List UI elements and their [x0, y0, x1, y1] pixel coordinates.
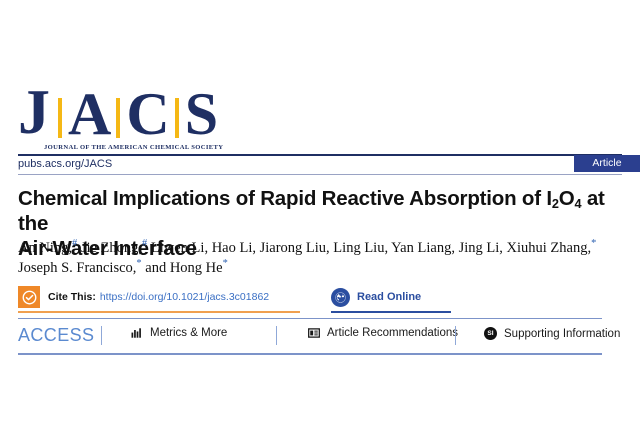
access-bar: ACCESS Metrics & More — [18, 322, 602, 352]
author-list: An Ning,# Jie Zhong,# Liwen Li, Hao Li, … — [18, 238, 618, 278]
jacs-masthead: J A C S JOURNAL OF THE AMERICAN CHEMICAL… — [18, 86, 218, 151]
author-line-1: An Ning,# Jie Zhong,# Liwen Li, Hao Li, … — [18, 240, 596, 256]
access-divider-3 — [455, 326, 456, 345]
article-header-page: J A C S JOURNAL OF THE AMERICAN CHEMICAL… — [0, 0, 640, 429]
logo-letter-s: S — [185, 87, 217, 142]
article-recommendations-item[interactable]: Article Recommendations — [308, 327, 458, 339]
si-badge: SI — [484, 327, 497, 340]
jacs-logo: J A C S — [18, 86, 218, 142]
article-recommendations-label: Article Recommendations — [327, 327, 458, 339]
access-divider-2 — [276, 326, 277, 345]
cite-this-block[interactable]: Cite This: https://doi.org/10.1021/jacs.… — [18, 286, 269, 308]
cite-this-label: Cite This: — [48, 291, 96, 303]
masthead-rule — [18, 154, 622, 156]
supporting-information-label: Supporting Information — [504, 328, 620, 340]
logo-letter-c: C — [126, 87, 168, 142]
logo-letter-j: J — [18, 83, 49, 142]
read-online-label: Read Online — [357, 291, 421, 303]
check-circle-icon — [18, 286, 40, 308]
bar-chart-icon — [131, 327, 143, 339]
logo-divider-2 — [116, 98, 120, 138]
globe-icon — [331, 288, 350, 307]
article-type-badge: Article — [574, 155, 640, 172]
read-online-underline — [331, 311, 451, 313]
cite-read-row: Cite This: https://doi.org/10.1021/jacs.… — [18, 286, 622, 314]
access-rule-top — [18, 318, 602, 319]
supporting-information-icon: SI — [484, 327, 497, 340]
title-subscript-4: 4 — [574, 196, 581, 211]
access-label[interactable]: ACCESS — [18, 325, 94, 346]
logo-divider-1 — [58, 98, 62, 138]
doi-link[interactable]: https://doi.org/10.1021/jacs.3c01862 — [100, 291, 269, 303]
pubs-rule — [18, 174, 622, 175]
journal-subtitle: JOURNAL OF THE AMERICAN CHEMICAL SOCIETY — [44, 144, 218, 151]
title-part-1: Chemical Implications of Rapid Reactive … — [18, 187, 552, 210]
access-rule-bottom — [18, 353, 602, 355]
title-subscript-2: 2 — [552, 196, 559, 211]
logo-divider-3 — [175, 98, 179, 138]
access-divider-1 — [101, 326, 102, 345]
cite-underline — [18, 311, 300, 313]
supporting-information-item[interactable]: SI Supporting Information — [484, 327, 620, 340]
metrics-and-more-label: Metrics & More — [150, 327, 227, 339]
article-recommendations-icon — [308, 327, 320, 339]
logo-letter-a: A — [68, 87, 110, 142]
pubs-url[interactable]: pubs.acs.org/JACS — [18, 158, 112, 170]
title-part-2: O — [559, 187, 575, 210]
author-line-2: Joseph S. Francisco,* and Hong He* — [18, 260, 228, 276]
read-online-block[interactable]: Read Online — [331, 286, 421, 308]
metrics-and-more-item[interactable]: Metrics & More — [131, 327, 227, 339]
